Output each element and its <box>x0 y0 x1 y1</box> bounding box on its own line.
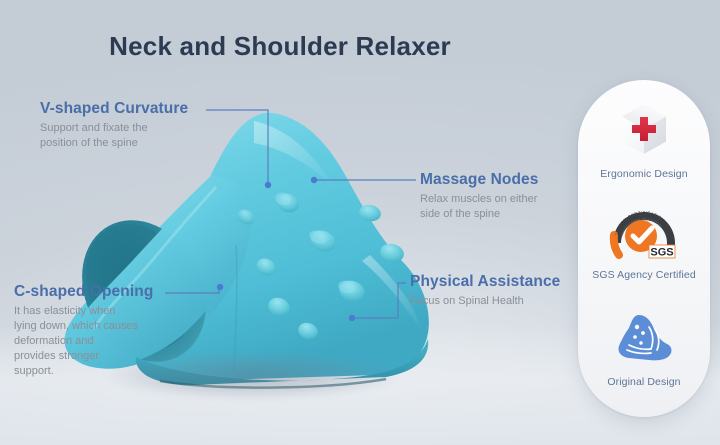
callout-body: Relax muscles on either side of the spin… <box>420 192 538 222</box>
medical-cross-hexagon-icon <box>578 100 710 162</box>
infographic-canvas: Neck and Shoulder Relaxer <box>0 0 720 445</box>
callout-body: Focus on Spinal Health <box>410 294 560 309</box>
callout-v-shaped-curvature: V-shaped Curvature Support and fixate th… <box>40 100 188 151</box>
callout-physical-assistance: Physical Assistance Focus on Spinal Heal… <box>410 273 560 309</box>
certification-panel: Ergonomic Design <box>578 80 710 417</box>
badge-sgs-certified: SYSTEM CERTIFICATION CERTIFICATION DE SY… <box>578 205 710 281</box>
callout-body: Support and fixate the position of the s… <box>40 121 188 151</box>
badge-ergonomic-design: Ergonomic Design <box>578 100 710 180</box>
badge-original-design: Original Design <box>578 308 710 388</box>
page-title: Neck and Shoulder Relaxer <box>0 31 560 62</box>
callout-massage-nodes: Massage Nodes Relax muscles on either si… <box>420 171 538 222</box>
badge-label: SGS Agency Certified <box>578 269 710 281</box>
callout-heading: Massage Nodes <box>420 171 538 189</box>
product-silhouette-icon <box>578 308 710 370</box>
callout-c-shaped-opening: C-shaped Opening It has elasticity when … <box>14 283 153 379</box>
sgs-mark-text: SGS <box>650 247 673 259</box>
badge-label: Original Design <box>578 376 710 388</box>
callout-heading: V-shaped Curvature <box>40 100 188 118</box>
callout-heading: Physical Assistance <box>410 273 560 291</box>
sgs-seal-icon: SYSTEM CERTIFICATION CERTIFICATION DE SY… <box>578 205 710 263</box>
badge-label: Ergonomic Design <box>578 168 710 180</box>
callout-heading: C-shaped Opening <box>14 283 153 301</box>
callout-body: It has elasticity when lying down, which… <box>14 304 153 379</box>
